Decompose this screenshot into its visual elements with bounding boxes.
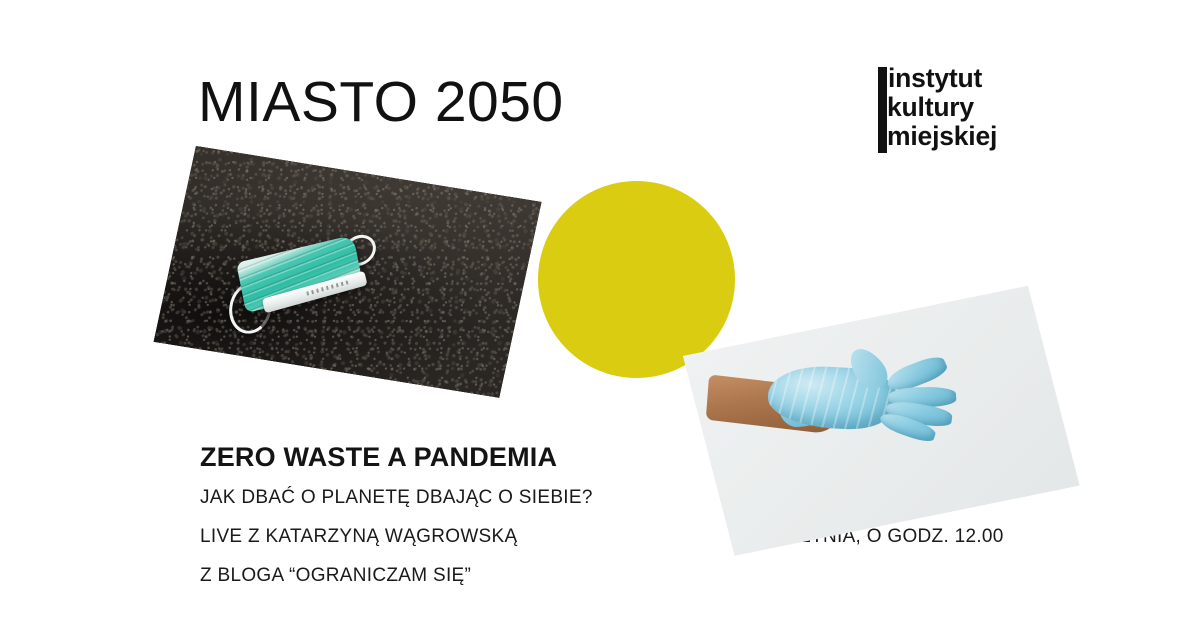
logo-line-kultury: kultury [887,93,997,122]
logo-line-miejskiej: miejskiej [887,122,997,151]
logo-line-instytut: instytut [888,64,997,93]
yellow-circle-shape [538,181,735,378]
logo-wordmark: instytut kultury miejskiej [887,64,997,151]
event-subline-blog: Z BLOGA “OGRANICZAM SIĘ” [200,566,471,585]
discarded-mask-photo [154,146,542,398]
page-title: MIASTO 2050 [198,74,564,131]
studio-background [683,286,1080,556]
gloved-hands-photo [683,286,1080,556]
ikm-logo: instytut kultury miejskiej [878,64,1010,156]
poster-canvas: MIASTO 2050 instytut kultury miejskiej [0,0,1192,625]
logo-vertical-bar-icon [878,67,887,153]
event-headline: ZERO WASTE A PANDEMIA [200,444,557,471]
lower-gloved-hand [759,356,957,445]
event-subline-guest: LIVE Z KATARZYNĄ WĄGROWSKĄ [200,527,517,546]
asphalt-background [154,146,542,398]
event-subline-question: JAK DBAĆ O PLANETĘ DBAJĄC O SIEBIE? [200,488,593,507]
